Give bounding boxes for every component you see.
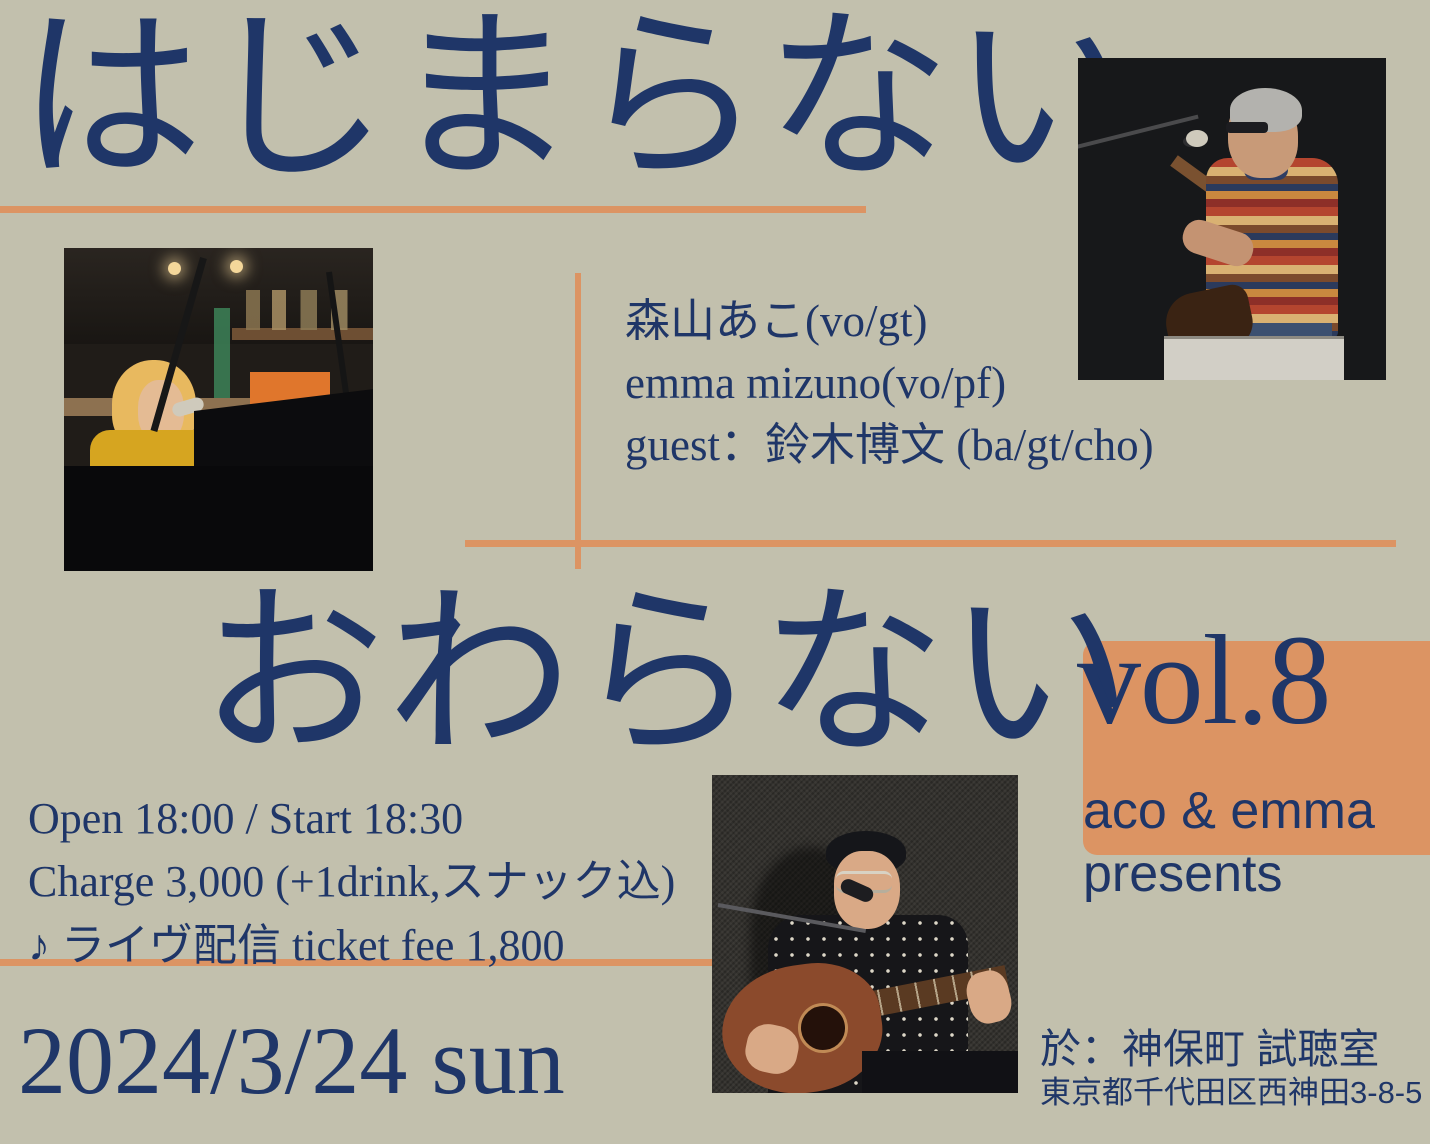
page-title-line-2: おわらない [200,582,1134,767]
green-panel-shape [214,308,230,398]
microphone-stand-shape [1078,115,1199,150]
bottles-shape [246,290,364,330]
amplifier-shape [1164,336,1344,380]
microphone-head-shape [1186,130,1208,147]
info-stream: ♪ ライヴ配信 ticket fee 1,800 [28,914,675,977]
performer-line-3: guest：鈴木博文 (ba/gt/cho) [625,414,1154,476]
info-charge: Charge 3,000 (+1drink,スナック込) [28,850,675,913]
presenter-line-1: aco & emma [1083,780,1375,843]
presenter-credit: aco & emma presents [1083,780,1375,907]
ceiling-lamp-shape [230,260,243,273]
performer-list: 森山あこ(vo/gt) emma mizuno(vo/pf) guest：鈴木博… [625,290,1154,476]
sunglasses-shape [1226,122,1268,133]
venue-info: 於：神保町 試聴室 東京都千代田区西神田3-8-5 [1040,1024,1422,1112]
info-times: Open 18:00 / Start 18:30 [28,787,675,850]
event-date: 2024/3/24 sun [18,1013,565,1109]
venue-address: 東京都千代田区西神田3-8-5 [1040,1074,1422,1112]
top-accent-rule [0,206,866,213]
venue-name: 於：神保町 試聴室 [1040,1024,1422,1074]
skirt-shape [862,1051,1018,1093]
photo-bassist-suzuki-hirofumi [1078,58,1386,380]
performer-line-1: 森山あこ(vo/gt) [625,290,1154,352]
ticket-info: Open 18:00 / Start 18:30 Charge 3,000 (+… [28,787,675,977]
grand-piano-body-shape [64,466,373,571]
photo-guitarist-aco-moriyama [712,775,1018,1093]
presenter-line-2: presents [1083,843,1375,906]
photo-pianist-emma-mizuno [64,248,373,571]
volume-number: vol.8 [1077,616,1330,744]
middle-accent-rule [465,540,1396,547]
concert-flyer: はじまらない、 おわらない 森山あこ(vo/gt) emma mizuno(vo… [0,0,1430,1144]
performer-line-2: emma mizuno(vo/pf) [625,352,1154,414]
ceiling-lamp-shape [168,262,181,275]
vertical-accent-rule [575,273,581,569]
